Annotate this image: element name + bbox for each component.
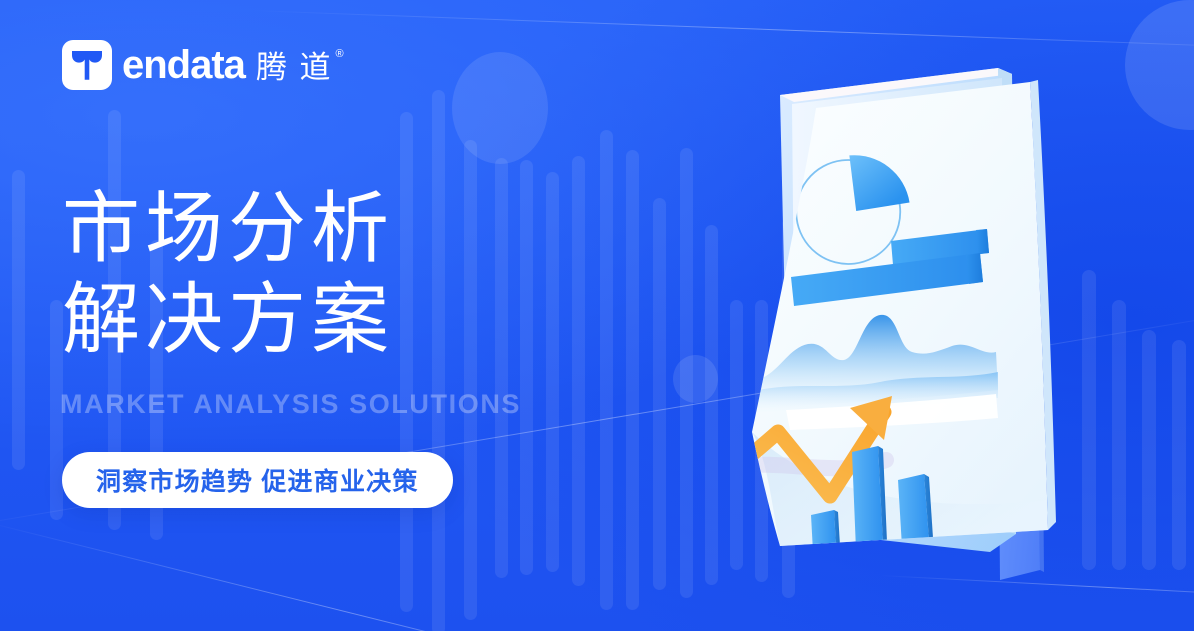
page-title-line-1: 市场分析: [62, 183, 394, 274]
logo-wordmark: endata: [122, 45, 245, 85]
logo-chinese-name: 腾 道 ®: [256, 52, 333, 83]
tendata-t-mark-icon: [62, 40, 112, 90]
logo-wordmark-text: endata: [122, 43, 245, 87]
page-title: 市场分析 解决方案: [62, 183, 394, 366]
page-title-line-2: 解决方案: [62, 274, 394, 365]
tagline-pill-label: 洞察市场趋势 促进商业决策: [96, 462, 419, 498]
page-subtitle: MARKET ANALYSIS SOLUTIONS: [60, 389, 521, 420]
tilted-report-sheet-icon: [722, 80, 1056, 552]
decor-circle-large: [452, 52, 548, 164]
brand-logo[interactable]: endata 腾 道 ®: [62, 40, 333, 90]
logo-chinese-text: 腾 道: [256, 50, 333, 85]
market-analysis-banner: endata 腾 道 ® 市场分析 解决方案 MARKET ANALYSIS S…: [0, 0, 1194, 631]
market-analysis-report-illustration: [640, 60, 1110, 620]
tagline-pill[interactable]: 洞察市场趋势 促进商业决策: [62, 452, 453, 508]
registered-trademark-icon: ®: [335, 49, 345, 60]
